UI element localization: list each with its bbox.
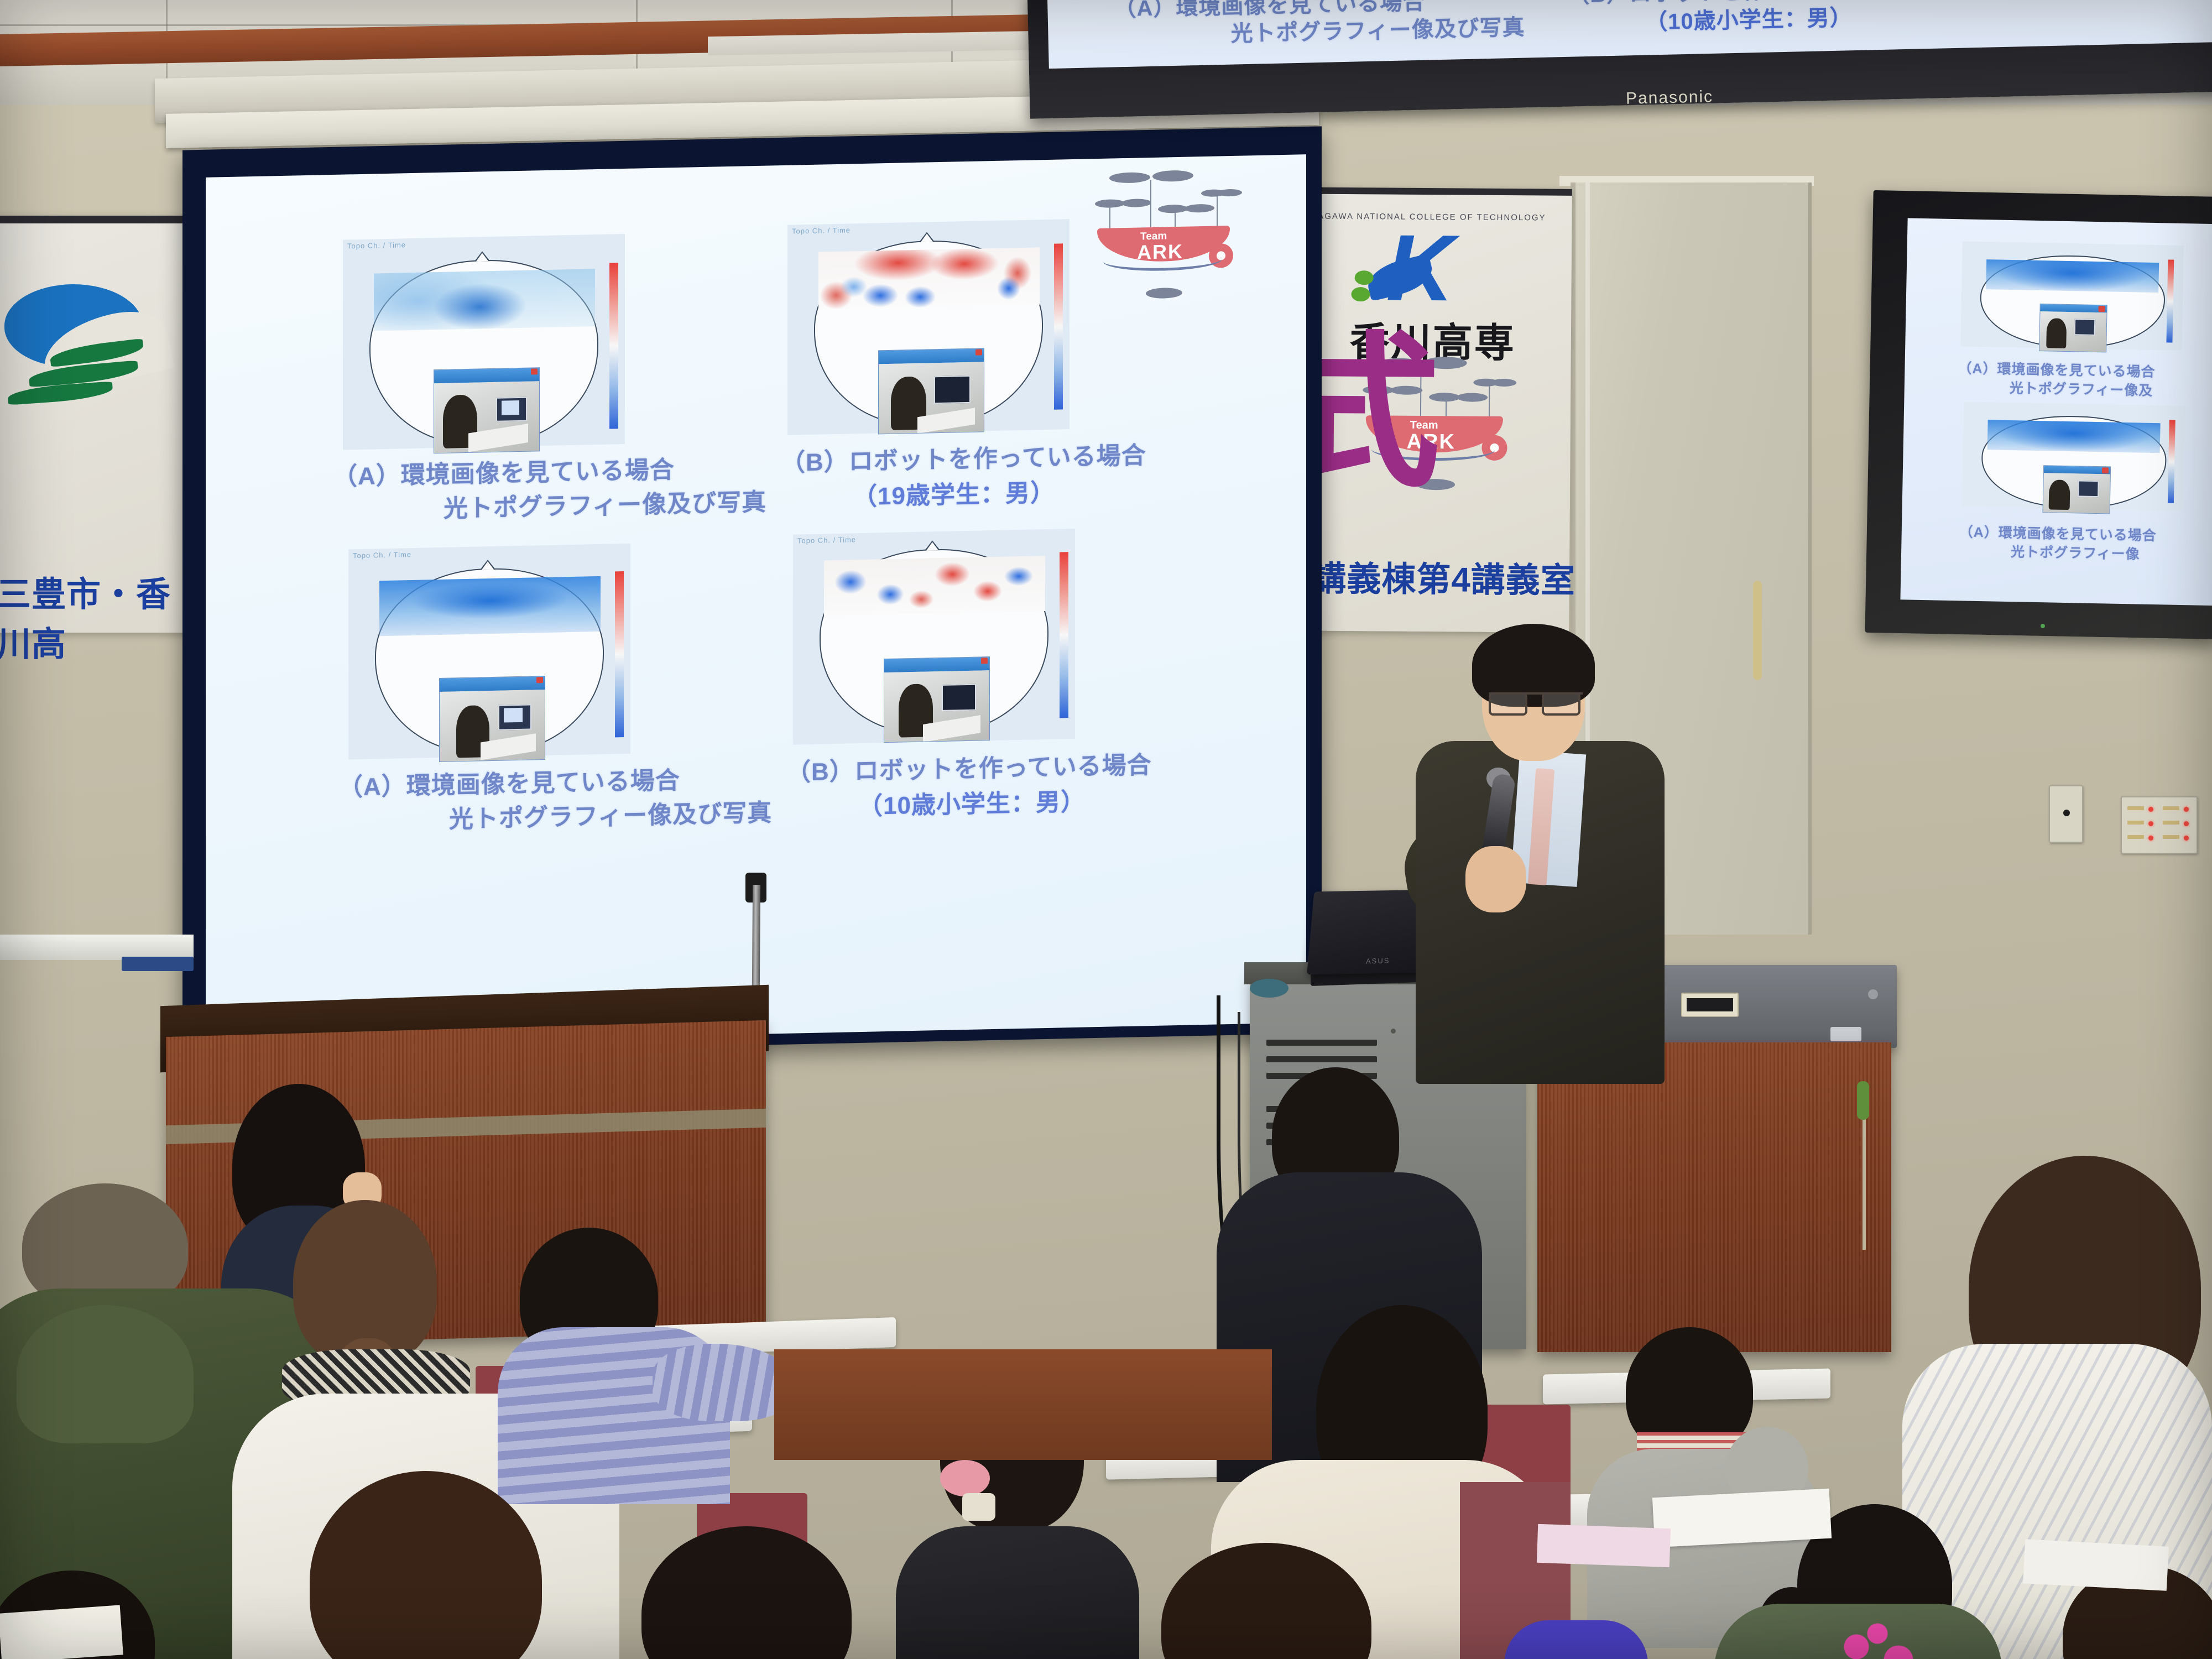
tv-topo-panel-2 [1962, 401, 2185, 511]
banner-mitoyo-city: 三豊市・香川高 [0, 216, 194, 633]
activation-band-top-left [374, 269, 595, 331]
tv-colorbar-2 [2168, 420, 2176, 503]
whiteboard-tray [122, 957, 194, 971]
computer-mouse[interactable] [1250, 979, 1288, 998]
paper-on-desk-1 [1652, 1489, 1832, 1548]
tv-caption-1-line2: 光トポグラフィー像及 [2009, 377, 2153, 400]
panasonic-brand-label: Panasonic [1626, 87, 1714, 108]
case-latch[interactable] [1868, 989, 1878, 999]
topo-header-bottom-left: Topo Ch. / Time [353, 550, 411, 560]
topo-header-top-right: Topo Ch. / Time [792, 226, 851, 235]
presenter-glasses-icon [1489, 692, 1583, 711]
nose-marker-top-right [919, 232, 935, 242]
topo-panel-top-right: Topo Ch. / Time [787, 219, 1070, 435]
lecture-hall-scene: 三豊市・香川高 KAGAWA NATIONAL COLLEGE OF TECHN… [0, 0, 2212, 1659]
nose-marker-bottom-left [480, 560, 495, 570]
banner-kagawa-kosen: KAGAWA NATIONAL COLLEGE OF TECHNOLOGY K … [1281, 187, 1572, 633]
tv-band-2 [1987, 420, 2161, 453]
colorbar-top-right [1054, 243, 1063, 409]
wall-tv-screen: （A）環境画像を見ている場合 光トポグラフィー像及 （A）環境画像を見ている場合… [1900, 218, 2212, 606]
hair-scrunchie [940, 1460, 990, 1496]
case-hinge-right [1830, 1027, 1861, 1041]
colorbar-top-left [609, 263, 618, 429]
wall-cord [1863, 1112, 1866, 1250]
tv-photo-2 [2042, 465, 2111, 514]
activation-band-bottom-left [379, 576, 601, 636]
jacket-print [1825, 1620, 1930, 1659]
paper-on-desk-3 [0, 1605, 123, 1659]
paper-on-desk-2 [1537, 1524, 1671, 1567]
stimulus-photo-top-right [878, 348, 984, 434]
activation-band-bottom-right [824, 556, 1045, 615]
side-podium [1537, 1042, 1891, 1352]
floor [774, 1349, 1272, 1460]
slide-subject-top: （19歳学生：男） [853, 473, 1055, 513]
overhead-subject: （10歳小学生：男） [1645, 0, 1853, 36]
door-handle[interactable] [1753, 581, 1762, 680]
slide-caption-bottom-right: （B）ロボットを作っている場合 [786, 745, 1152, 788]
paper-on-desk-4 [2023, 1539, 2169, 1590]
kagawa-dot-green-2 [1351, 287, 1370, 301]
tv-band-1 [1986, 259, 2159, 293]
mitoyo-leaf-3 [7, 381, 113, 405]
wall-outlet-plate[interactable] [2049, 785, 2083, 843]
stimulus-photo-bottom-right [884, 656, 990, 743]
light-switch-panel[interactable] [2121, 796, 2198, 854]
tv-caption-2-line1: （A）環境画像を見ている場合 [1959, 521, 2157, 545]
slide-subcaption-bottom: 光トポグラフィー像及び写真 [449, 792, 772, 834]
overhead-subcaption: 光トポグラフィー像及び写真 [1230, 9, 1525, 48]
colorbar-bottom-right [1060, 552, 1068, 718]
tv-power-led [2041, 624, 2045, 628]
colorbar-bottom-left [615, 571, 624, 737]
tv-caption-1-line1: （A）環境画像を見ている場合 [1958, 357, 2156, 381]
presenter-hand [1465, 846, 1526, 912]
banner-left-org-text: 三豊市・香川高 [0, 566, 194, 666]
topo-header-top-left: Topo Ch. / Time [347, 241, 406, 250]
tv-colorbar-1 [2166, 259, 2174, 342]
kagawa-dot-green-1 [1355, 270, 1374, 285]
tv-topo-panel-1 [1960, 241, 2184, 351]
case-label-plate [1681, 993, 1739, 1017]
topo-panel-bottom-left: Topo Ch. / Time [348, 544, 630, 760]
laptop-brand-label: ASUS [1366, 956, 1390, 966]
stimulus-photo-top-left [434, 367, 540, 453]
nose-marker-bottom-right [925, 540, 940, 551]
topo-panel-top-left: Topo Ch. / Time [343, 234, 625, 450]
topo-header-bottom-right: Topo Ch. / Time [797, 535, 856, 545]
activation-band-top-right [818, 247, 1040, 309]
slide-subcaption-top: 光トポグラフィー像及び写真 [444, 482, 766, 524]
nose-marker-top-left [474, 251, 490, 262]
slide-caption-top-right: （B）ロボットを作っている場合 [781, 435, 1146, 478]
topo-panel-bottom-right: Topo Ch. / Time [793, 529, 1075, 745]
tv-photo-1 [2039, 304, 2107, 352]
slide-subject-bottom: （10歳小学生：男） [858, 782, 1086, 822]
stimulus-photo-bottom-left [439, 676, 545, 762]
wall-hook-green [1857, 1081, 1869, 1120]
tv-caption-2-line2: 光トポグラフィー像 [2011, 541, 2140, 563]
team-ark-logo-slide: Team ARK [1097, 166, 1246, 275]
